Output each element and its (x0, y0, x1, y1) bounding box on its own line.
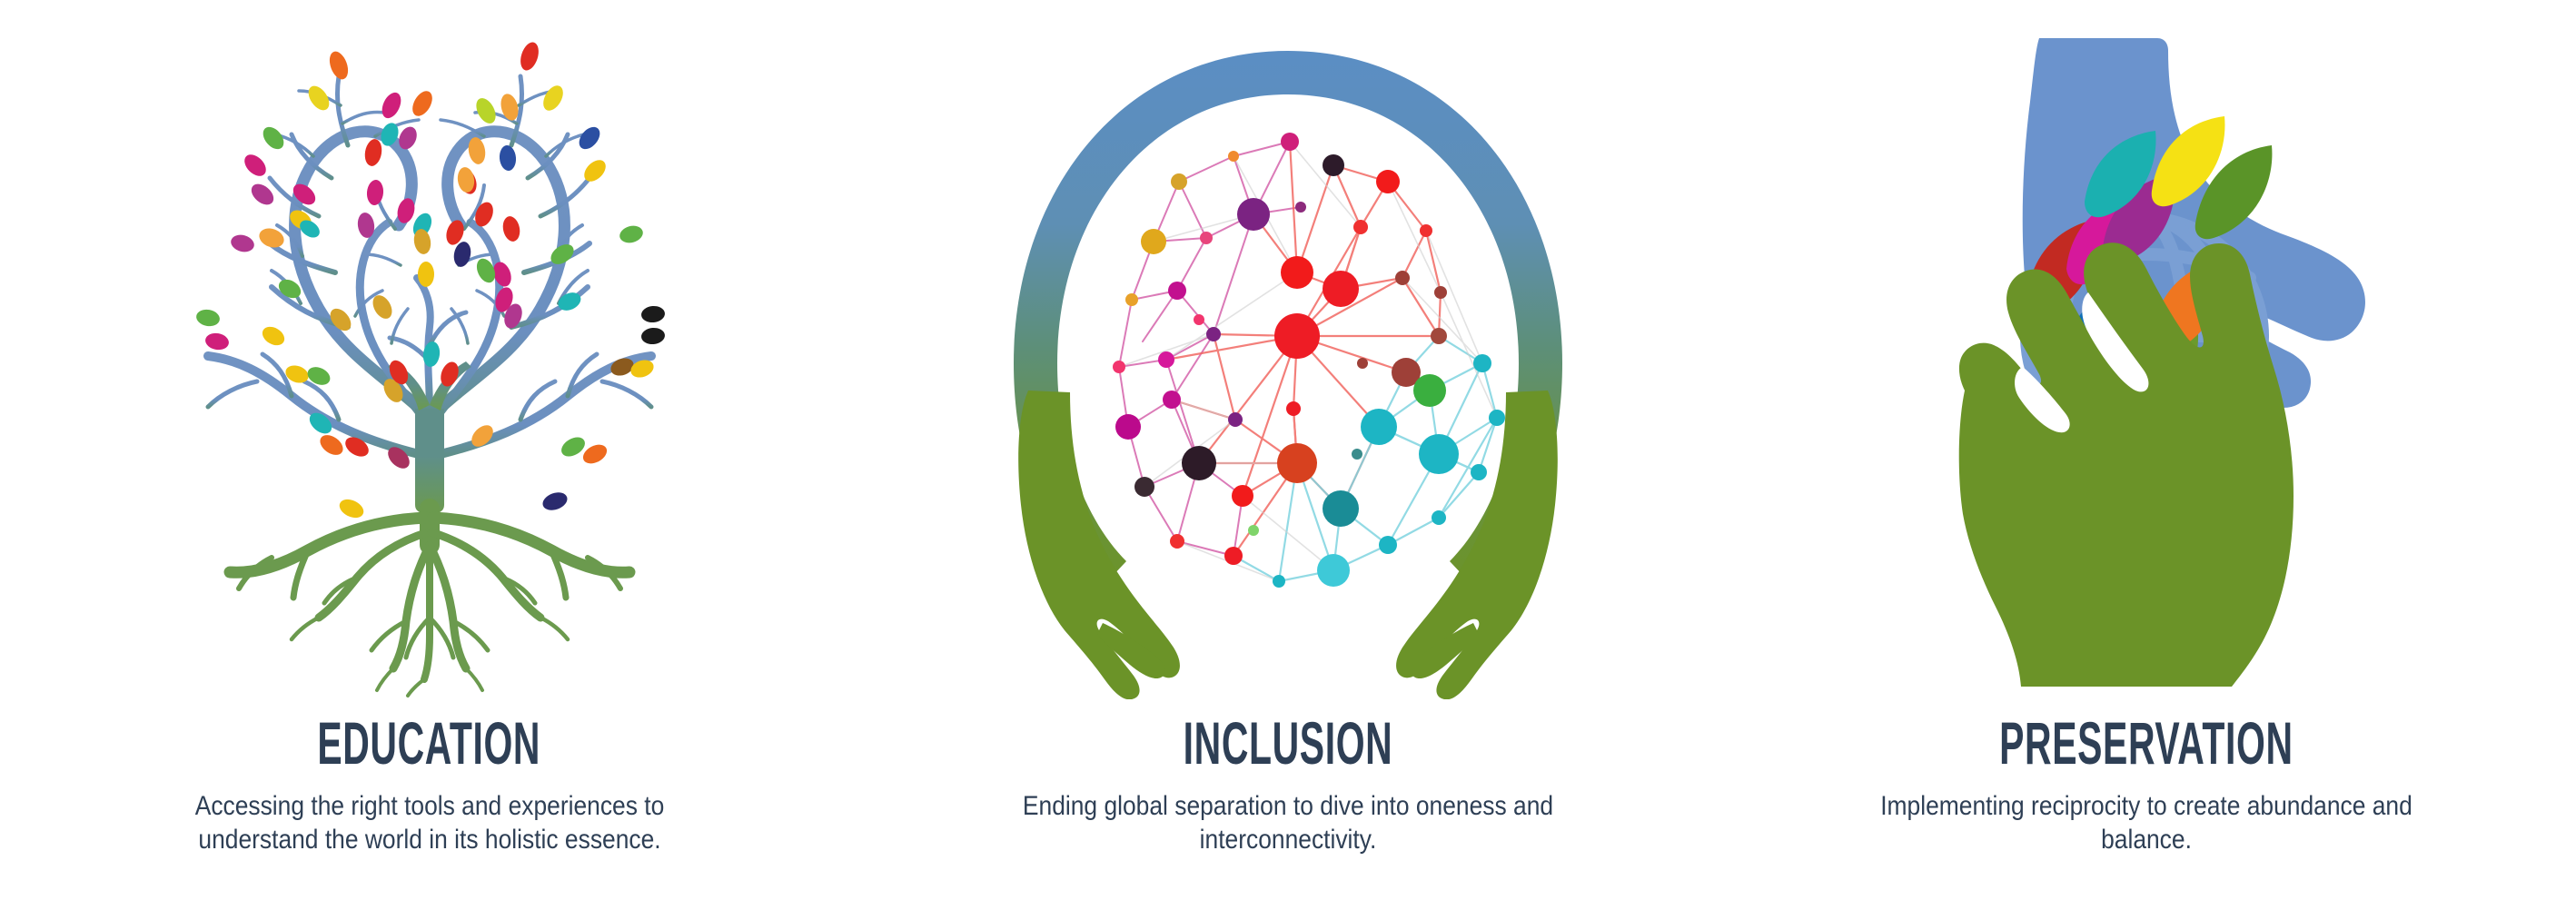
pillar-description-education: Accessing the right tools and experience… (110, 790, 749, 856)
pillar-education: EDUCATION Accessing the right tools and … (0, 0, 858, 910)
preservation-desc-wrap: Implementing reciprocity to create abund… (1718, 790, 2576, 856)
pillar-title-education: EDUCATION (318, 713, 541, 773)
lower-green-hand (1959, 242, 2294, 687)
pillar-inclusion: INCLUSION Ending global separation to di… (858, 0, 1717, 910)
heart-tree-icon (75, 0, 784, 699)
inclusion-desc-wrap: Ending global separation to dive into on… (858, 790, 1717, 856)
hands-protecting-globe-icon (1792, 0, 2501, 699)
pillar-title-inclusion: INCLUSION (1184, 713, 1393, 773)
inclusion-illustration (858, 0, 1717, 699)
education-title-wrap: EDUCATION (0, 699, 858, 783)
preservation-title-wrap: PRESERVATION (1718, 699, 2576, 783)
three-pillars-infographic: EDUCATION Accessing the right tools and … (0, 0, 2576, 910)
pillar-description-preservation: Implementing reciprocity to create abund… (1827, 790, 2466, 856)
education-desc-wrap: Accessing the right tools and experience… (0, 790, 858, 856)
hands-network-globe-icon (934, 0, 1642, 699)
inclusion-title-wrap: INCLUSION (858, 699, 1717, 783)
preservation-illustration (1718, 0, 2576, 699)
pillar-description-inclusion: Ending global separation to dive into on… (968, 790, 1608, 856)
pillar-title-preservation: PRESERVATION (2000, 713, 2294, 773)
left-hand (1018, 391, 1180, 699)
heart-tree-illustration (0, 0, 858, 699)
pillar-preservation: PRESERVATION Implementing reciprocity to… (1718, 0, 2576, 910)
right-hand (1396, 391, 1558, 699)
